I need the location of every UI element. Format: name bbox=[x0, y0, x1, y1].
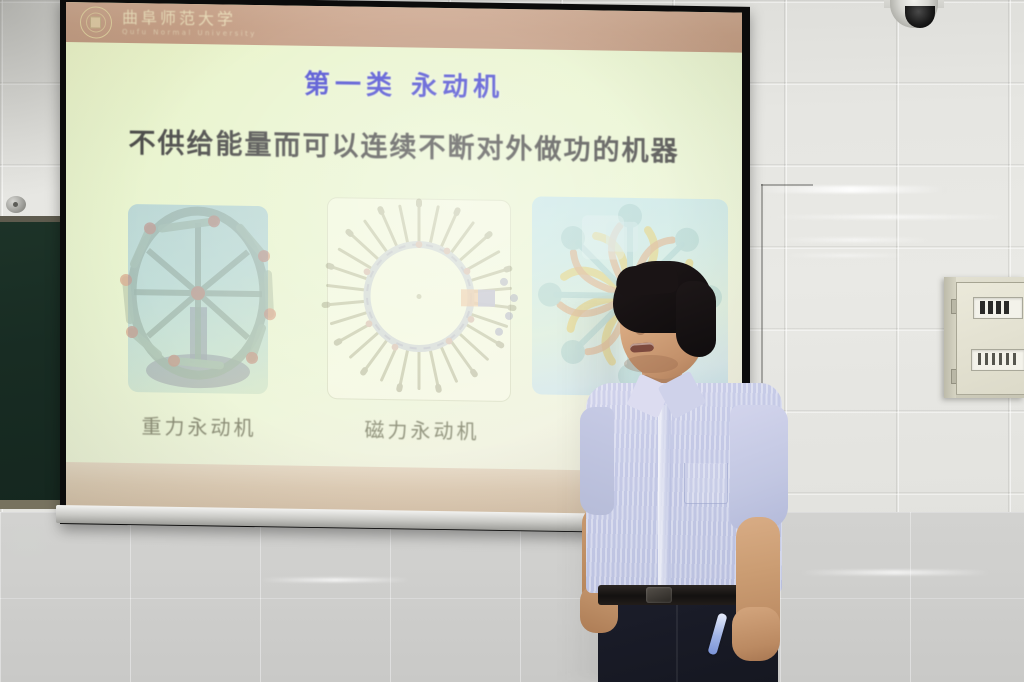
presenter-right-sleeve bbox=[730, 405, 788, 529]
wall-knob-icon bbox=[6, 196, 26, 213]
shirt-pocket bbox=[684, 463, 728, 504]
dome-security-camera-icon bbox=[884, 0, 944, 28]
breaker-window-lower bbox=[971, 349, 1024, 371]
trouser-crease bbox=[676, 605, 678, 682]
classroom-scene: 曲阜师范大学 Qufu Normal University 第一类 永动机 不供… bbox=[0, 0, 1024, 682]
figure-2-caption: 磁力永动机 bbox=[309, 413, 535, 446]
slide-title: 第一类 永动机 bbox=[66, 60, 742, 108]
presenter-hair-front bbox=[615, 262, 679, 297]
chalkboard bbox=[0, 222, 64, 504]
camera-dome bbox=[890, 0, 938, 28]
university-name-cn: 曲阜师范大学 bbox=[122, 10, 257, 28]
figure-gravity-wheel: 重力永动机 bbox=[86, 187, 312, 410]
magnetic-perpetual-wheel-icon bbox=[309, 191, 535, 410]
presenter-left-sleeve bbox=[580, 407, 614, 515]
figure-1-caption: 重力永动机 bbox=[86, 409, 312, 442]
figure-magnetic-wheel: 磁力永动机 bbox=[309, 191, 535, 414]
presenter-hair-side bbox=[676, 281, 716, 357]
electrical-breaker-panel[interactable] bbox=[944, 277, 1024, 398]
presenter-right-hand bbox=[732, 607, 780, 661]
breaker-window-upper bbox=[973, 297, 1023, 319]
chalk-smudge bbox=[4, 522, 50, 566]
slide-subtitle: 不供给能量而可以连续不断对外做功的机器 bbox=[66, 120, 742, 170]
presenter bbox=[580, 255, 790, 682]
university-seal-icon bbox=[80, 6, 112, 39]
shirt-placket bbox=[658, 405, 671, 595]
wall-lower-tile-grid bbox=[0, 512, 1024, 682]
wall-lower bbox=[0, 512, 1024, 682]
panel-door[interactable] bbox=[956, 282, 1024, 395]
wall-seam bbox=[761, 184, 813, 186]
gravity-perpetual-wheel-icon bbox=[86, 187, 312, 406]
university-name-block: 曲阜师范大学 Qufu Normal University bbox=[122, 10, 257, 38]
camera-lens bbox=[905, 6, 935, 28]
belt-buckle bbox=[646, 587, 672, 603]
chin-shadow bbox=[624, 355, 678, 373]
university-name-en: Qufu Normal University bbox=[122, 29, 257, 38]
presenter-mouth bbox=[630, 342, 655, 353]
